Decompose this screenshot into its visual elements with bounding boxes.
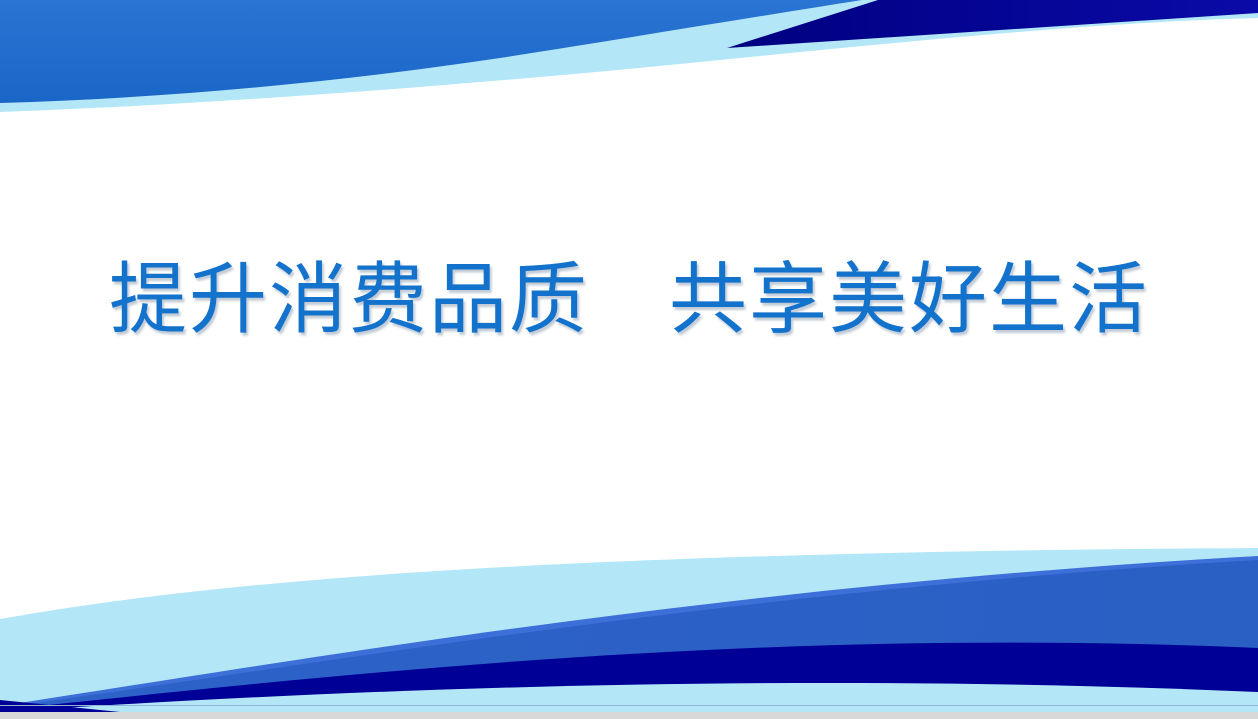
bottom-royal-blue-wave [0,556,1258,706]
slide-title-container: 提升消费品质 共享美好生活 [0,258,1258,342]
bottom-swoosh-banner [0,0,1258,719]
bottom-grey-strip [0,712,1258,719]
top-medium-blue-wave [0,0,862,103]
bottom-hairline-divider [0,705,1258,706]
slide-title: 提升消费品质 共享美好生活 [109,258,1149,342]
top-navy-wedge [727,0,1258,48]
bottom-navy-wave [0,643,1258,714]
bottom-light-blue-wave [0,548,1258,719]
bottom-medium-blue-wave [0,560,1258,710]
top-light-blue-wave [0,0,1258,112]
top-swoosh-banner [0,0,1258,719]
slide-canvas: 提升消费品质 共享美好生活 [0,0,1258,719]
